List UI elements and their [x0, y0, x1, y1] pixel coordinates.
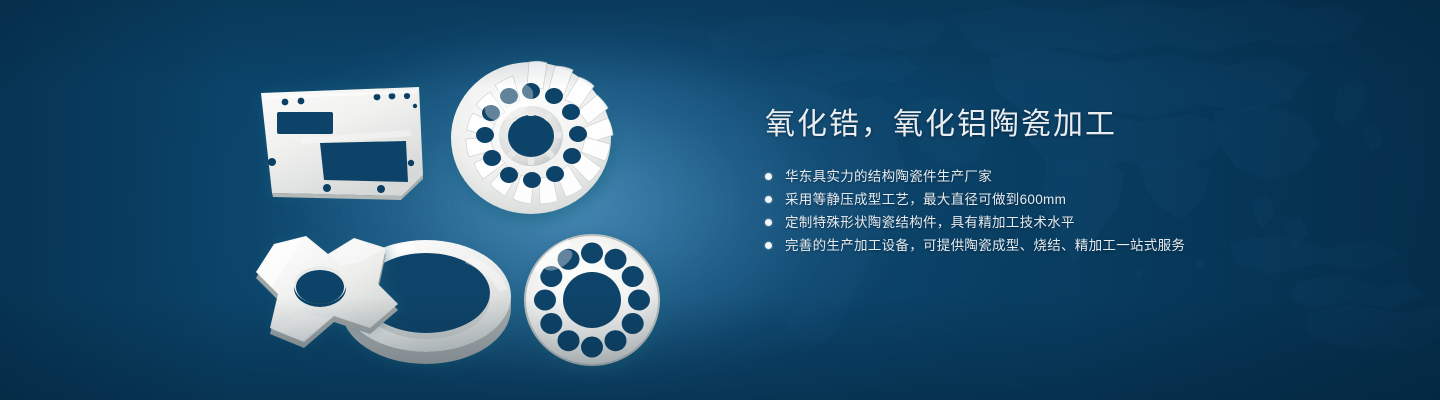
page-title: 氧化锆，氧化铝陶瓷加工 — [765, 106, 1385, 144]
bullet-dot-icon — [765, 173, 772, 180]
bullet-dot-icon — [765, 242, 772, 249]
feature-text: 采用等静压成型工艺，最大直径可做到600mm — [785, 189, 1066, 210]
feature-text: 定制特殊形状陶瓷结构件，具有精加工技术水平 — [785, 212, 1075, 233]
feature-text: 完善的生产加工设备，可提供陶瓷成型、烧结、精加工一站式服务 — [785, 235, 1185, 256]
list-item: 完善的生产加工设备，可提供陶瓷成型、烧结、精加工一站式服务 — [765, 235, 1385, 256]
bullet-dot-icon — [765, 196, 772, 203]
list-item: 采用等静压成型工艺，最大直径可做到600mm — [765, 189, 1385, 210]
ceramic-perforated-disc — [525, 235, 663, 372]
feature-text: 华东具实力的结构陶瓷件生产厂家 — [785, 166, 992, 187]
list-item: 定制特殊形状陶瓷结构件，具有精加工技术水平 — [765, 212, 1385, 233]
hero-banner: 氧化锆，氧化铝陶瓷加工 华东具实力的结构陶瓷件生产厂家 采用等静压成型工艺，最大… — [0, 0, 1440, 400]
center-radial-glow — [300, 40, 820, 370]
ceramic-impeller-disc — [451, 61, 615, 222]
ceramic-machined-plate — [261, 87, 424, 200]
ceramic-products-illustration — [0, 0, 720, 400]
banner-copy: 氧化锆，氧化铝陶瓷加工 华东具实力的结构陶瓷件生产厂家 采用等静压成型工艺，最大… — [765, 106, 1385, 258]
feature-list: 华东具实力的结构陶瓷件生产厂家 采用等静压成型工艺，最大直径可做到600mm 定… — [765, 166, 1385, 256]
bullet-dot-icon — [765, 219, 772, 226]
list-item: 华东具实力的结构陶瓷件生产厂家 — [765, 166, 1385, 187]
ceramic-ring — [341, 240, 514, 366]
ceramic-cross-plate — [256, 236, 400, 348]
